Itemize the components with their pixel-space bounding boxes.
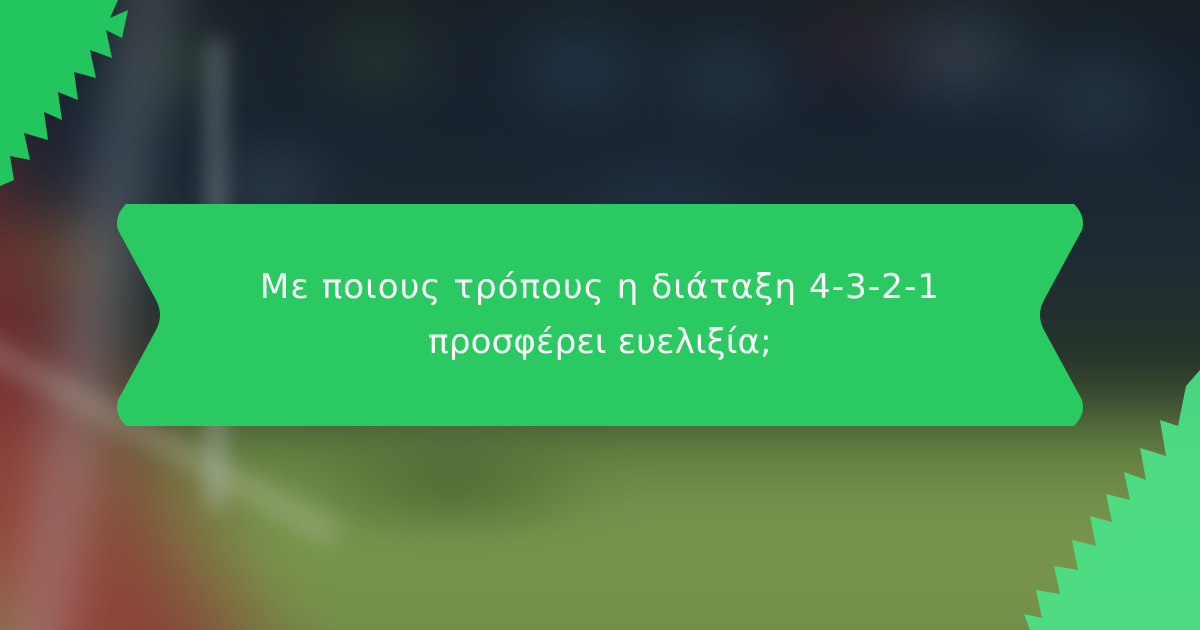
question-line-1: Με ποιους τρόπους η διάταξη 4-3-2-1 [260,260,940,315]
question-line-2: προσφέρει ευελιξία; [428,315,772,370]
question-text-block: Με ποιους τρόπους η διάταξη 4-3-2-1 προσ… [108,196,1092,434]
question-ribbon: Με ποιους τρόπους η διάταξη 4-3-2-1 προσ… [108,196,1092,434]
poster-canvas: Με ποιους τρόπους η διάταξη 4-3-2-1 προσ… [0,0,1200,630]
